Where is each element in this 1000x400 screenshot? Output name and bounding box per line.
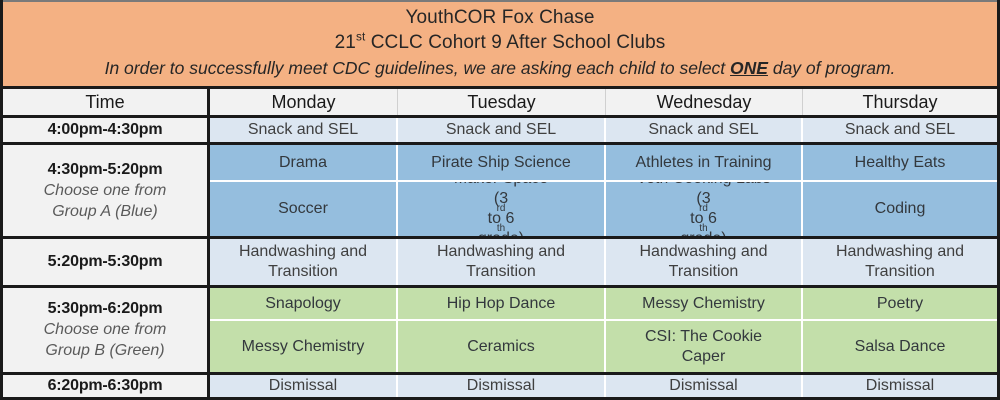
table-block-group-a: 4:30pm-5:20pm Choose one from Group A (B…	[3, 145, 997, 239]
activity-group-a-thursday-2[interactable]: Coding	[803, 182, 997, 237]
activity-group-b-thursday-1[interactable]: Poetry	[803, 288, 997, 322]
activity-transition-thursday: Handwashing and Transition	[803, 239, 997, 284]
grade-close: grade)	[680, 229, 726, 236]
column-header-thursday: Thursday	[803, 89, 997, 115]
banner-subtitle-prefix: 21	[335, 32, 356, 53]
activity-snack-monday: Snack and SEL	[210, 118, 398, 142]
time-note-group-b-line2: Group B (Green)	[45, 340, 164, 361]
time-cell-transition: 5:20pm-5:30pm	[3, 239, 210, 284]
activity-transition-wednesday-line1: Handwashing and	[639, 242, 767, 262]
activity-group-a-tuesday-1[interactable]: Pirate Ship Science	[398, 145, 606, 181]
after-school-clubs-schedule: YouthCOR Fox Chase 21st CCLC Cohort 9 Af…	[0, 0, 1000, 400]
group-a-activities: Drama Pirate Ship Science Athletes in Tr…	[210, 145, 997, 236]
column-header-monday: Monday	[210, 89, 398, 115]
activity-transition-tuesday: Handwashing and Transition	[398, 239, 606, 284]
activity-transition-wednesday-line2: Transition	[669, 262, 739, 282]
group-b-activities: Snapology Hip Hop Dance Messy Chemistry …	[210, 288, 997, 372]
column-header-wednesday: Wednesday	[606, 89, 803, 115]
table-row-dismissal: 6:20pm-6:30pm Dismissal Dismissal Dismis…	[3, 375, 997, 400]
time-note-group-a-line2: Group A (Blue)	[52, 201, 158, 222]
time-cell-dismissal: 6:20pm-6:30pm	[3, 375, 210, 397]
time-label-snack: 4:00pm-4:30pm	[48, 120, 163, 140]
activity-group-a-wednesday-2[interactable]: Vetri Cooking Labs (3rd to 6th grade)	[606, 182, 803, 237]
activity-group-b-wednesday-2-line1: CSI: The Cookie	[645, 327, 762, 347]
group-b-option-row-1: Snapology Hip Hop Dance Messy Chemistry …	[210, 288, 997, 322]
activity-snack-wednesday: Snack and SEL	[606, 118, 803, 142]
activity-group-b-tuesday-1[interactable]: Hip Hop Dance	[398, 288, 606, 322]
time-note-group-a-line1: Choose one from	[44, 180, 167, 201]
time-label-group-a: 4:30pm-5:20pm	[48, 160, 163, 180]
banner-subtitle: 21st CCLC Cohort 9 After School Clubs	[13, 30, 987, 55]
activity-group-a-monday-1[interactable]: Drama	[210, 145, 398, 181]
time-cell-group-b: 5:30pm-6:20pm Choose one from Group B (G…	[3, 288, 210, 372]
column-header-wednesday-label: Wednesday	[657, 92, 752, 112]
table-row-snack: 4:00pm-4:30pm Snack and SEL Snack and SE…	[3, 118, 997, 145]
column-header-time-label: Time	[85, 92, 124, 112]
time-label-dismissal: 6:20pm-6:30pm	[48, 376, 163, 396]
group-a-option-row-1: Drama Pirate Ship Science Athletes in Tr…	[210, 145, 997, 181]
column-header-tuesday-label: Tuesday	[467, 92, 535, 112]
time-label-transition: 5:20pm-5:30pm	[48, 252, 163, 272]
activity-dismissal-wednesday: Dismissal	[606, 375, 803, 397]
activity-transition-monday-line2: Transition	[268, 262, 338, 282]
activity-group-b-wednesday-1[interactable]: Messy Chemistry	[606, 288, 803, 322]
activity-transition-tuesday-line2: Transition	[466, 262, 536, 282]
activity-group-b-thursday-2[interactable]: Salsa Dance	[803, 321, 997, 372]
banner-notice: In order to successfully meet CDC guidel…	[13, 55, 987, 81]
activity-transition-thursday-line2: Transition	[865, 262, 935, 282]
activity-dismissal-monday: Dismissal	[210, 375, 398, 397]
activity-group-a-wednesday-2-title: Vetri Cooking Labs	[636, 182, 770, 189]
activity-group-b-monday-1[interactable]: Snapology	[210, 288, 398, 322]
table-row-transition: 5:20pm-5:30pm Handwashing and Transition…	[3, 239, 997, 287]
time-label-group-b: 5:30pm-6:20pm	[48, 299, 163, 319]
activity-group-b-monday-2[interactable]: Messy Chemistry	[210, 321, 398, 372]
group-a-option-row-2: Soccer Maker Space (3rd to 6th grade) Ve…	[210, 182, 997, 237]
activity-transition-monday: Handwashing and Transition	[210, 239, 398, 284]
activity-group-a-thursday-1[interactable]: Healthy Eats	[803, 145, 997, 181]
grade-close: grade)	[478, 229, 524, 236]
banner-notice-emphasis: ONE	[730, 58, 768, 78]
column-header-time: Time	[3, 89, 210, 115]
activity-group-a-monday-2[interactable]: Soccer	[210, 182, 398, 237]
table-header-row: Time Monday Tuesday Wednesday Thursday	[3, 89, 997, 118]
column-header-tuesday: Tuesday	[398, 89, 606, 115]
activity-group-b-wednesday-2-line2: Caper	[682, 347, 726, 367]
time-cell-snack: 4:00pm-4:30pm	[3, 118, 210, 142]
activity-transition-tuesday-line1: Handwashing and	[437, 242, 565, 262]
activity-dismissal-tuesday: Dismissal	[398, 375, 606, 397]
activity-group-a-wednesday-1[interactable]: Athletes in Training	[606, 145, 803, 181]
schedule-banner: YouthCOR Fox Chase 21st CCLC Cohort 9 Af…	[3, 0, 997, 89]
activity-transition-wednesday: Handwashing and Transition	[606, 239, 803, 284]
activity-group-a-tuesday-2[interactable]: Maker Space (3rd to 6th grade)	[398, 182, 606, 237]
banner-subtitle-ordinal: st	[356, 31, 365, 44]
group-b-option-row-2: Messy Chemistry Ceramics CSI: The Cookie…	[210, 321, 997, 372]
activity-transition-monday-line1: Handwashing and	[239, 242, 367, 262]
banner-subtitle-suffix: CCLC Cohort 9 After School Clubs	[365, 32, 665, 53]
activity-group-a-wednesday-2-grades: (3rd to 6th grade)	[680, 189, 726, 236]
activity-group-b-tuesday-2[interactable]: Ceramics	[398, 321, 606, 372]
activity-group-a-tuesday-2-title: Maker Space	[454, 182, 548, 189]
activity-dismissal-thursday: Dismissal	[803, 375, 997, 397]
column-header-monday-label: Monday	[271, 92, 335, 112]
time-cell-group-a: 4:30pm-5:20pm Choose one from Group A (B…	[3, 145, 210, 236]
activity-group-a-tuesday-2-grades: (3rd to 6th grade)	[478, 189, 524, 236]
banner-notice-prefix: In order to successfully meet CDC guidel…	[105, 58, 730, 78]
column-header-thursday-label: Thursday	[862, 92, 937, 112]
activity-transition-thursday-line1: Handwashing and	[836, 242, 964, 262]
activity-snack-tuesday: Snack and SEL	[398, 118, 606, 142]
banner-title: YouthCOR Fox Chase	[13, 5, 987, 30]
banner-notice-suffix: day of program.	[768, 58, 895, 78]
time-note-group-b-line1: Choose one from	[44, 319, 167, 340]
activity-snack-thursday: Snack and SEL	[803, 118, 997, 142]
activity-group-b-wednesday-2[interactable]: CSI: The Cookie Caper	[606, 321, 803, 372]
table-block-group-b: 5:30pm-6:20pm Choose one from Group B (G…	[3, 288, 997, 375]
